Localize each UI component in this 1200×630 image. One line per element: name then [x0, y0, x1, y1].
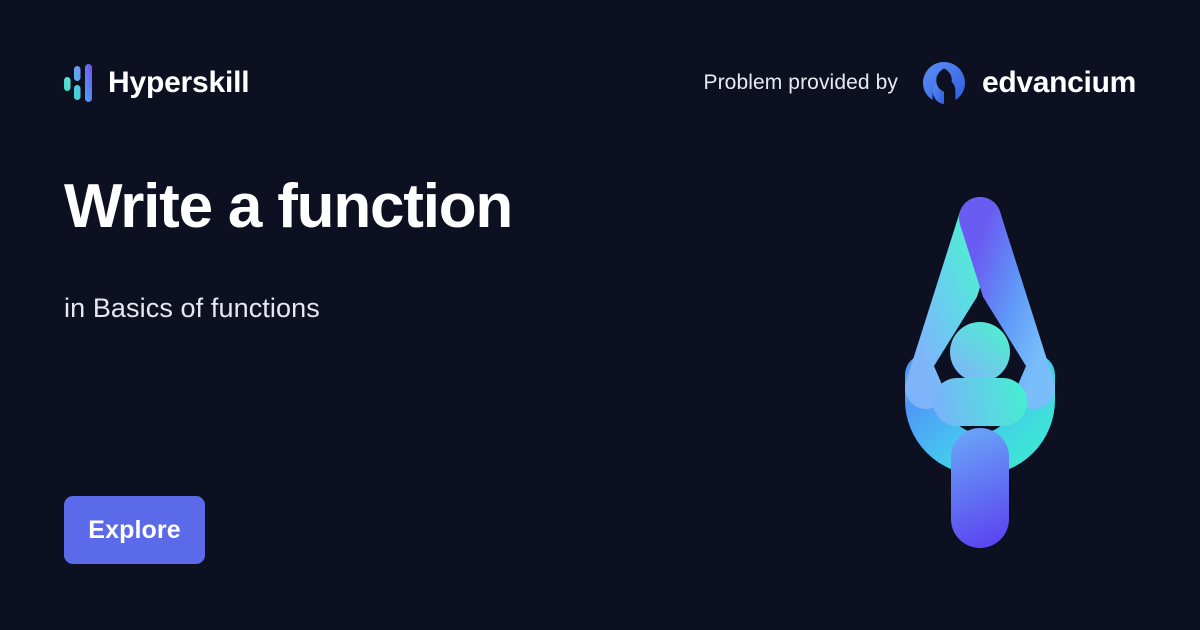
explore-button[interactable]: Explore	[64, 496, 205, 564]
provider-block: Problem provided by edvancium	[703, 59, 1136, 107]
og-card: Hyperskill Problem provided by	[0, 0, 1200, 630]
hyperskill-wordmark: Hyperskill	[108, 68, 249, 98]
edvancium-drop-icon	[920, 59, 968, 107]
hyperskill-bars-icon	[64, 64, 94, 102]
torch-illustration	[888, 170, 1072, 570]
provider-label: Problem provided by	[703, 71, 898, 95]
torch-core-circle	[950, 322, 1010, 382]
hyperskill-brand[interactable]: Hyperskill	[64, 64, 249, 102]
edvancium-brand[interactable]: edvancium	[920, 59, 1136, 107]
torch-handle	[951, 428, 1009, 548]
page-title: Write a function	[64, 174, 684, 239]
edvancium-wordmark: edvancium	[982, 68, 1136, 98]
main-content: Write a function in Basics of functions	[64, 166, 684, 324]
page-subtitle: in Basics of functions	[64, 293, 684, 324]
header: Hyperskill Problem provided by	[0, 0, 1200, 166]
